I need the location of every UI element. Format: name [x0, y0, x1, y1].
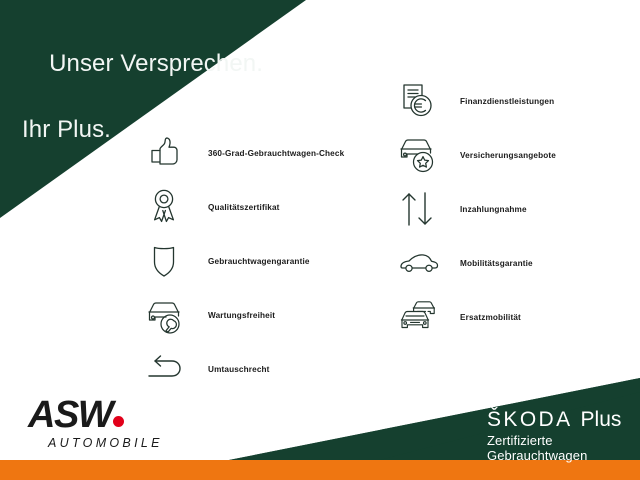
- headline-line-1: Unser Versprechen.: [49, 50, 263, 77]
- car-star-icon: [398, 133, 444, 177]
- benefit-label: Versicherungsangebote: [460, 151, 556, 160]
- benefit-item: Gebrauchtwagengarantie: [146, 234, 344, 288]
- partner-logo-subtitle: Zertifizierte Gebrauchtwagen: [487, 433, 640, 463]
- dealer-logo: ASW AUTOMOBILE: [28, 396, 168, 450]
- benefit-label: 360-Grad-Gebrauchtwagen-Check: [208, 149, 344, 158]
- benefit-label: Finanzdienstleistungen: [460, 97, 554, 106]
- benefit-item: Wartungsfreiheit: [146, 288, 344, 342]
- benefit-label: Gebrauchtwagengarantie: [208, 257, 310, 266]
- benefit-label: Wartungsfreiheit: [208, 311, 275, 320]
- benefit-item: Finanzdienstleistungen: [398, 74, 556, 128]
- partner-logo-plus: Plus: [581, 408, 622, 432]
- dealer-logo-text: ASW: [28, 394, 112, 436]
- promo-banner: Unser Versprechen. Ihr Plus. 360-Grad-Ge…: [0, 0, 640, 480]
- benefit-item: 360-Grad-Gebrauchtwagen-Check: [146, 126, 344, 180]
- thumbs-up-icon: [146, 131, 192, 175]
- benefit-label: Qualitätszertifikat: [208, 203, 280, 212]
- benefit-label: Mobilitätsgarantie: [460, 259, 533, 268]
- partner-logo-mark: ŠKODA: [487, 408, 573, 432]
- dealer-logo-dot: [113, 416, 124, 427]
- return-arrow-icon: [146, 347, 192, 391]
- benefit-label: Ersatzmobilität: [460, 313, 521, 322]
- benefit-item: Versicherungsangebote: [398, 128, 556, 182]
- dealer-logo-wordmark: ASW: [28, 396, 168, 434]
- award-rosette-icon: [146, 185, 192, 229]
- car-side-icon: [398, 241, 444, 285]
- bottom-orange-bar: [0, 460, 640, 480]
- benefit-item: Ersatzmobilität: [398, 290, 556, 344]
- partner-logo-line-1: ŠKODA Plus: [487, 408, 640, 432]
- benefit-item: Inzahlungnahme: [398, 182, 556, 236]
- partner-logo: ŠKODA Plus Zertifizierte Gebrauchtwagen: [487, 408, 640, 463]
- up-down-arrows-icon: [398, 187, 444, 231]
- car-wrench-icon: [146, 293, 192, 337]
- benefit-item: Mobilitätsgarantie: [398, 236, 556, 290]
- dealer-logo-subtitle: AUTOMOBILE: [48, 436, 168, 450]
- benefits-left-column: 360-Grad-Gebrauchtwagen-Check Qualitätsz…: [146, 126, 344, 396]
- benefit-item: Umtauschrecht: [146, 342, 344, 396]
- benefit-label: Inzahlungnahme: [460, 205, 527, 214]
- two-cars-icon: [398, 295, 444, 339]
- document-euro-icon: [398, 79, 444, 123]
- benefits-right-column: Finanzdienstleistungen Versicherungsange…: [398, 74, 556, 344]
- benefit-item: Qualitätszertifikat: [146, 180, 344, 234]
- benefit-label: Umtauschrecht: [208, 365, 270, 374]
- shield-icon: [146, 239, 192, 283]
